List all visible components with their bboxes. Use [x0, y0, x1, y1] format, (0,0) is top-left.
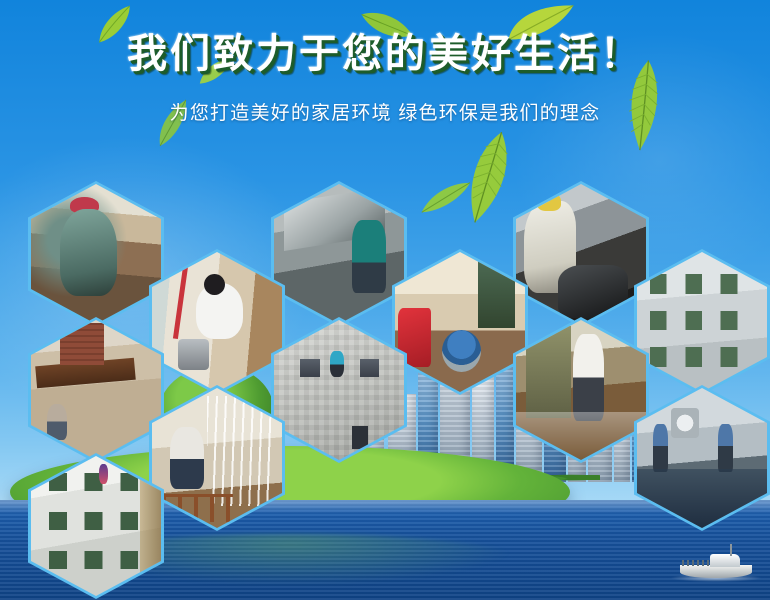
- banner-subheadline: 为您打造美好的家居环境 绿色环保是我们的理念: [170, 98, 601, 125]
- roof-worker: [653, 424, 669, 472]
- photo-rope-access-cleaning: [274, 320, 404, 460]
- hex-photo-facade[interactable]: [637, 252, 767, 392]
- wall-window: [352, 426, 368, 448]
- hex-photo-rope[interactable]: [274, 320, 404, 460]
- photo-kitchen-hood: [516, 184, 646, 324]
- wall-window: [300, 359, 320, 377]
- roof-worker: [718, 424, 734, 472]
- building-climber: [99, 464, 108, 484]
- photo-floor-polishing: [516, 320, 646, 460]
- wall-window: [360, 359, 380, 377]
- facade-window-row: [650, 311, 754, 331]
- photo-stair-cleaning: [152, 252, 282, 392]
- floor-machine: [442, 330, 481, 372]
- hex-photo-glassroof[interactable]: [637, 388, 767, 528]
- polishing-worker: [573, 334, 604, 421]
- hex-photo-office[interactable]: [395, 252, 525, 392]
- photo-duct-cleaning: [274, 184, 404, 324]
- air-conditioner-unit: [671, 408, 700, 439]
- photo-glass-curtain-wall: [637, 388, 767, 528]
- hex-photo-chandelier[interactable]: [152, 388, 282, 528]
- facade-window-row: [650, 274, 754, 294]
- hex-photo-demolition[interactable]: [31, 184, 161, 324]
- crystal-strands: [207, 396, 272, 505]
- banner-headline: 我们致力于您的美好生活！: [127, 34, 643, 74]
- mop-bucket: [178, 339, 209, 370]
- photo-chandelier-cleaning: [152, 388, 282, 528]
- promotional-banner: 我们致力于您的美好生活！ 为您打造美好的家居环境 绿色环保是我们的理念: [0, 0, 770, 600]
- photo-facade-tiles: [637, 252, 767, 392]
- mop-pole: [173, 266, 188, 339]
- hex-photo-duct[interactable]: [274, 184, 404, 324]
- chandelier-worker: [170, 427, 204, 489]
- worker-cap: [70, 197, 99, 214]
- glass-reflection: [637, 469, 767, 528]
- photo-handrail-refinish: [31, 320, 161, 460]
- headline-container: 我们致力于您的美好生活！: [0, 34, 770, 74]
- rope-climber: [330, 351, 344, 378]
- building-window-row: [49, 512, 148, 530]
- photo-white-building-cleaning: [31, 456, 161, 596]
- building-window-row: [49, 551, 148, 569]
- duct-worker: [352, 220, 386, 293]
- facade-window-row: [650, 347, 754, 367]
- garbage-bag: [558, 265, 628, 318]
- photo-carpet-cleaning: [395, 252, 525, 392]
- hex-photo-stairs[interactable]: [152, 252, 282, 392]
- subheadline-container: 为您打造美好的家居环境 绿色环保是我们的理念: [0, 98, 770, 125]
- hex-photo-handrail[interactable]: [31, 320, 161, 460]
- kneeling-worker: [47, 404, 68, 440]
- hex-photo-kitchenhood[interactable]: [516, 184, 646, 324]
- hex-photo-floorbuff[interactable]: [516, 320, 646, 460]
- brick-wall: [60, 323, 104, 365]
- photo-demolition: [31, 184, 161, 324]
- office-door: [526, 326, 570, 418]
- hex-photo-whitebldg[interactable]: [31, 456, 161, 596]
